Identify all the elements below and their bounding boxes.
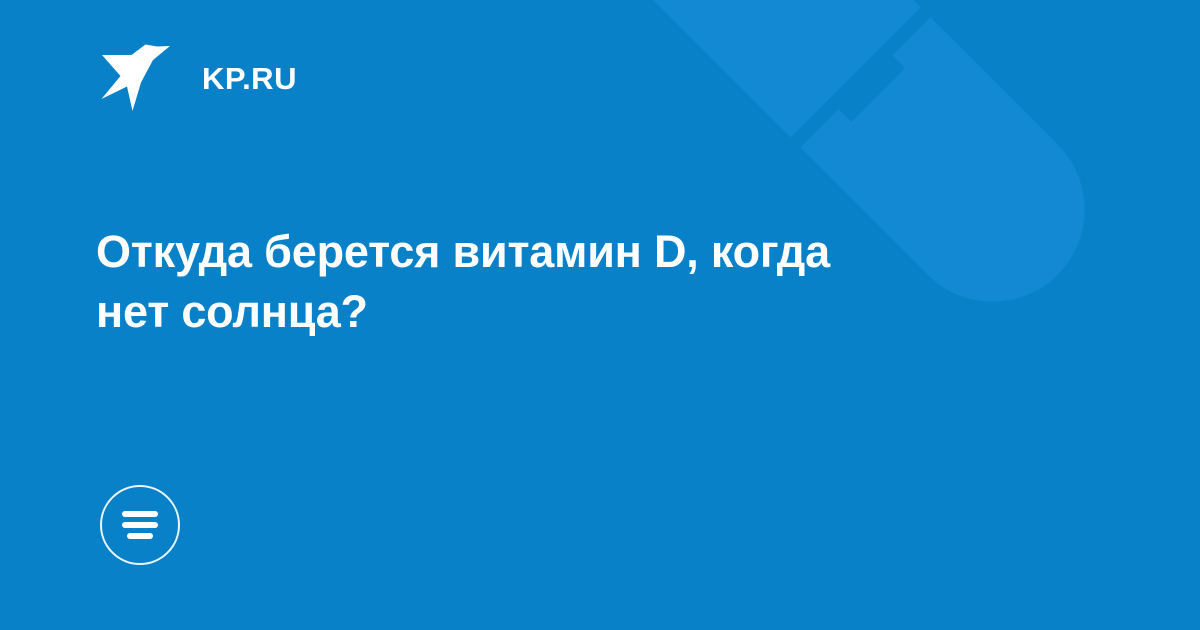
- swallow-bird-icon: [100, 42, 172, 114]
- social-share-card: KP.RU Откуда берется витамин D, когда не…: [0, 0, 1200, 630]
- text-line-2: [122, 522, 158, 528]
- text-line-1: [122, 511, 158, 517]
- brand-wordmark: KP.RU: [202, 63, 297, 94]
- text-line-3: [127, 533, 153, 539]
- page-title: Откуда берется витамин D, когда нет солн…: [96, 222, 1056, 342]
- brand[interactable]: KP.RU: [100, 42, 297, 114]
- read-article-button[interactable]: [100, 485, 180, 565]
